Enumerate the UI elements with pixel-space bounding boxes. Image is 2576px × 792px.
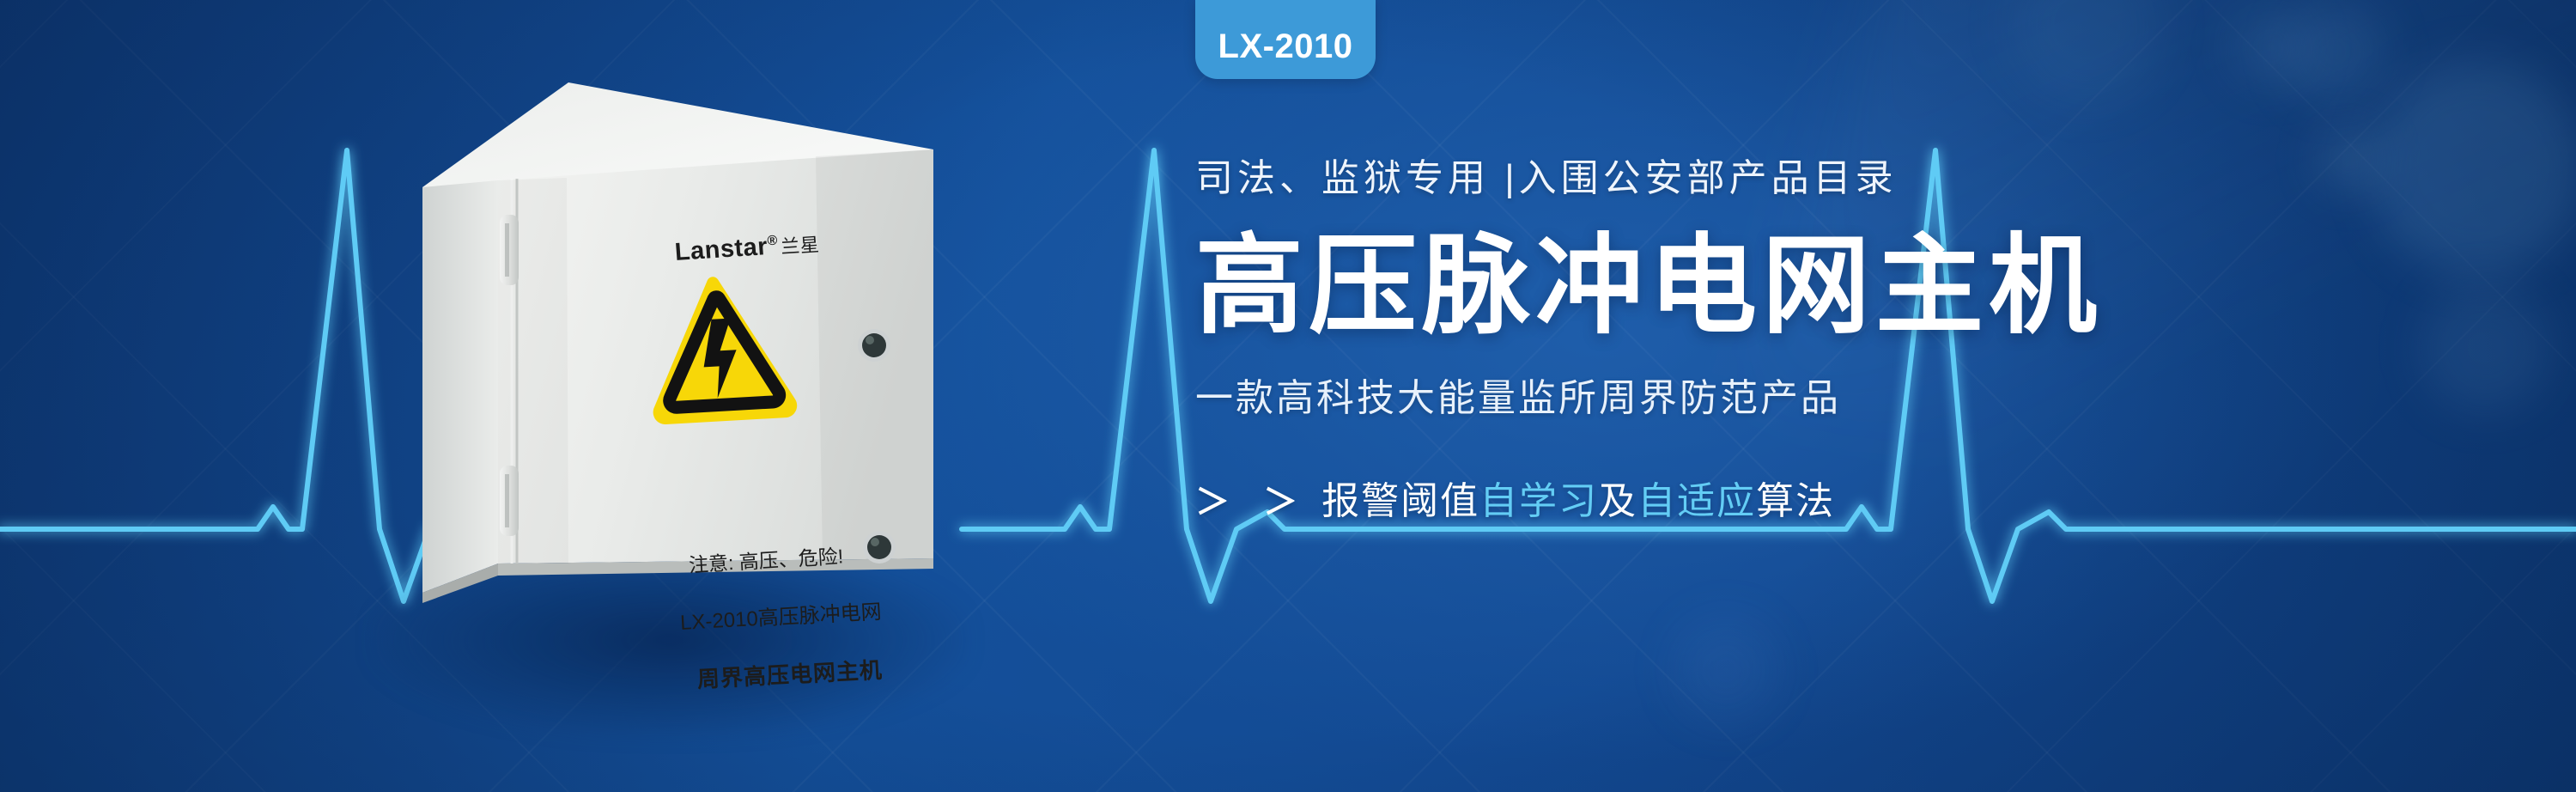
product-image: Lanstar®兰星 注意: 高压、危险! LX-2010高压脉冲电网 周界高压… (404, 77, 987, 713)
promo-banner: LX-2010 (0, 0, 2576, 792)
brand-registered-mark: ® (767, 234, 779, 249)
feature-highlight-1: 自学习 (1479, 483, 1598, 521)
model-badge-label: LX-2010 (1218, 15, 1353, 64)
headline-block: 司法、监狱专用 |入围公安部产品目录 高压脉冲电网主机 一款高科技大能量监所周界… (1195, 160, 2466, 521)
indicator-lamp-bottom (863, 531, 896, 564)
indicator-lamp-top (858, 329, 890, 362)
feature-part-3: 及 (1598, 483, 1637, 521)
kicker-text: 司法、监狱专用 |入围公安部产品目录 (1195, 160, 2466, 198)
brand-latin: Lanstar (674, 233, 769, 266)
product-cabinet-illustration (404, 77, 962, 644)
tagline-text: 一款高科技大能量监所周界防范产品 (1195, 380, 2466, 417)
page-title: 高压脉冲电网主机 (1195, 232, 2466, 340)
brand-chinese: 兰星 (780, 234, 820, 258)
feature-highlight-2: 自适应 (1637, 483, 1756, 521)
feature-line: ＞ ＞报警阈值自学习及自适应算法 (1195, 483, 2466, 521)
feature-part-1: 报警阈值 (1321, 483, 1479, 521)
chevron-right-icon: ＞ ＞ (1195, 485, 1309, 520)
feature-part-5: 算法 (1756, 483, 1835, 521)
model-badge: LX-2010 (1195, 0, 1376, 79)
